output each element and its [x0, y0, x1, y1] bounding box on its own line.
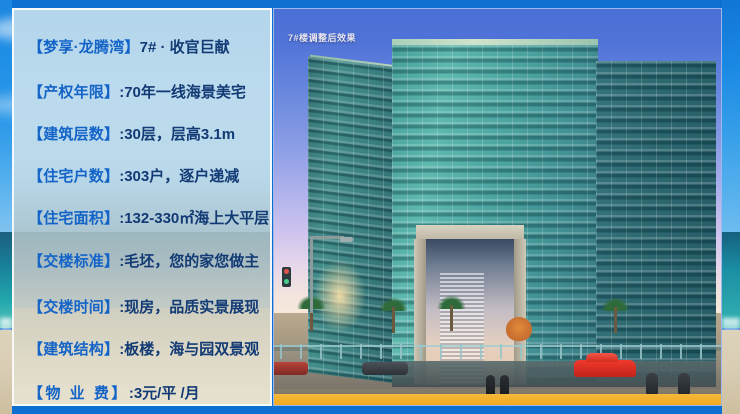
spec-value: :303户，逐户递减 [119, 168, 239, 185]
car-icon [362, 362, 408, 375]
spec-value: :3元/平 /月 [129, 385, 200, 402]
spec-key: 【梦享·龙腾湾】 [28, 39, 140, 56]
traffic-signal-icon [282, 267, 291, 287]
spec-value: 7# · 收官巨献 [140, 39, 230, 56]
background-strip-right [722, 0, 740, 414]
background-sky [722, 0, 740, 232]
spec-key: 【住宅户数】 [28, 168, 119, 185]
background-sea [0, 232, 12, 328]
street-lamp-pole [310, 237, 313, 313]
spec-row-unit-count: 【住宅户数】:303户，逐户递减 [28, 167, 264, 186]
spec-value: :132-330㎡海上大平层 [119, 210, 269, 227]
tower-wing-right [596, 61, 716, 383]
spec-value: :板楼，海与园双景观 [119, 341, 259, 358]
spec-value: :现房，品质实景展现 [119, 299, 259, 316]
car-icon [574, 360, 636, 377]
spec-row-unit-area: 【住宅面积】:132-330㎡海上大平层 [28, 209, 264, 228]
spec-key: 【交楼时间】 [28, 299, 119, 316]
property-spec-panel: 【梦享·龙腾湾】7# · 收官巨献 【产权年限】:70年一线海景美宅 【建筑层数… [12, 8, 272, 406]
spec-row-property-fee: 【物 业 费】:3元/平 /月 [28, 384, 264, 403]
background-sea [722, 232, 740, 328]
spec-row-project: 【梦享·龙腾湾】7# · 收官巨献 [28, 38, 264, 57]
photo-caption: 7#楼调整后效果 [288, 31, 356, 44]
background-strip-left [0, 0, 12, 414]
property-listing-poster: 【梦享·龙腾湾】7# · 收官巨献 【产权年限】:70年一线海景美宅 【建筑层数… [0, 0, 740, 414]
tree-icon [506, 317, 532, 341]
tower-podium [392, 361, 716, 387]
spec-key: 【产权年限】 [28, 84, 119, 101]
spec-key: 【建筑层数】 [28, 126, 119, 143]
window-mullions [308, 56, 394, 383]
cloud-shape [0, 18, 12, 40]
street-lamp-arm [310, 236, 344, 239]
spec-row-ownership-term: 【产权年限】:70年一线海景美宅 [28, 83, 264, 102]
spec-key: 【住宅面积】 [28, 210, 119, 227]
spec-key: 【建筑结构】 [28, 341, 119, 358]
window-mullions [596, 61, 716, 383]
background-beach [722, 330, 740, 414]
spec-value: :毛坯，您的家您做主 [119, 253, 259, 270]
car-icon [273, 362, 308, 375]
street-fence [274, 343, 721, 359]
building-render-photo: 7#楼调整后效果 [273, 8, 722, 406]
tower-wing-left [308, 56, 394, 383]
spec-key: 【交楼标准】 [28, 253, 119, 270]
spec-list: 【梦享·龙腾湾】7# · 收官巨献 【产权年限】:70年一线海景美宅 【建筑层数… [14, 10, 270, 404]
spec-row-structure: 【建筑结构】:板楼，海与园双景观 [28, 340, 264, 359]
cloud-shape [0, 96, 12, 114]
spec-value: :30层，层高3.1m [119, 126, 235, 143]
spec-row-delivery-time: 【交楼时间】:现房，品质实景展现 [28, 298, 264, 317]
accent-bar [274, 394, 721, 405]
spec-row-delivery-standard: 【交楼标准】:毛坯，您的家您做主 [28, 252, 264, 271]
street-lamp-head [340, 237, 353, 242]
spec-row-floor-count: 【建筑层数】:30层，层高3.1m [28, 125, 264, 144]
spec-key: 【物 业 费】 [28, 385, 129, 402]
background-beach [0, 330, 12, 414]
spec-value: :70年一线海景美宅 [119, 84, 246, 101]
